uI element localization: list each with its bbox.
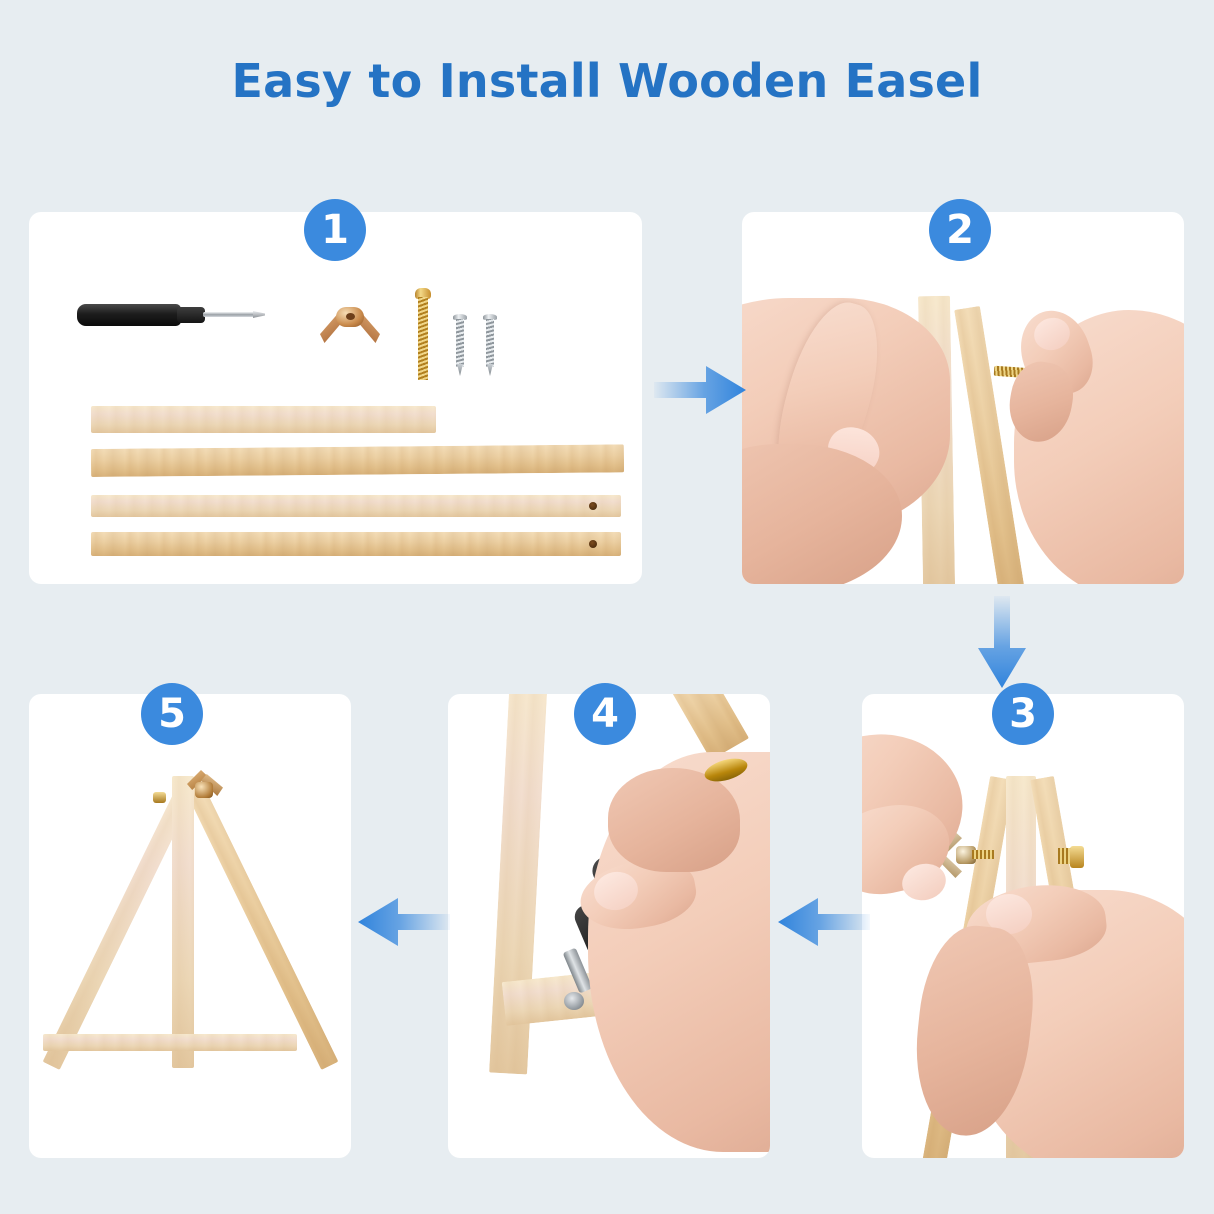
wood-stick-leg-1 xyxy=(91,444,624,477)
easel-rear-legs xyxy=(663,694,749,760)
step-card-1 xyxy=(29,212,642,584)
screwdriver-icon xyxy=(77,300,263,330)
crossbar-shelf xyxy=(43,1034,297,1051)
step-1-illustration xyxy=(29,212,642,584)
wood-stick-leg-3 xyxy=(91,532,621,556)
wood-stick-leg-2 xyxy=(91,495,621,517)
arrow-left-icon-step4-step5 xyxy=(358,894,450,950)
step-badge-3: 3 xyxy=(992,683,1054,745)
arrow-down-icon-step2-step3 xyxy=(974,596,1030,688)
wing-nut-icon xyxy=(320,307,380,347)
step-card-3 xyxy=(862,694,1184,1158)
arrow-left-icon-step3-step4 xyxy=(778,894,870,950)
step-3-illustration xyxy=(862,694,1184,1158)
step-card-4 xyxy=(448,694,770,1158)
step-2-illustration xyxy=(742,212,1184,584)
step-card-2 xyxy=(742,212,1184,584)
page-title: Easy to Install Wooden Easel xyxy=(0,54,1214,108)
hand-knuckles xyxy=(608,768,740,872)
easel-leg-center xyxy=(172,776,194,1068)
bolt-head xyxy=(1058,846,1084,868)
screw-icon-1 xyxy=(453,314,467,376)
wing-nut-icon xyxy=(187,770,225,806)
long-bolt-icon xyxy=(414,288,432,380)
step-4-illustration xyxy=(448,694,770,1158)
step-badge-1: 1 xyxy=(304,199,366,261)
screw-icon-2 xyxy=(483,314,497,376)
arrow-right-icon-step1-step2 xyxy=(654,362,746,418)
wood-stick-crossbar xyxy=(91,406,436,433)
step-badge-4: 4 xyxy=(574,683,636,745)
bolt-head xyxy=(153,792,166,803)
step-badge-5: 5 xyxy=(141,683,203,745)
step-5-illustration xyxy=(29,694,351,1158)
step-badge-2: 2 xyxy=(929,199,991,261)
step-card-5 xyxy=(29,694,351,1158)
easel-leg-right xyxy=(182,776,338,1070)
